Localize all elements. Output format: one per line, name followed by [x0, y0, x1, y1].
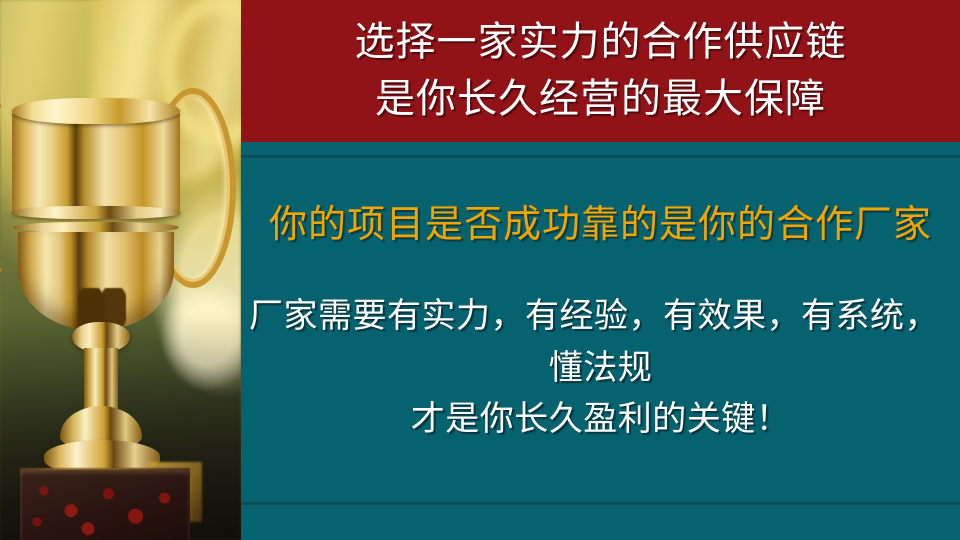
trophy-rim	[12, 98, 180, 124]
header-title-line-2: 是你长久经营的最大保障	[375, 71, 826, 128]
presentation-slide: 选择一家实力的合作供应链 是你长久经营的最大保障 你的项目是否成功靠的是你的合作…	[0, 0, 960, 540]
body-line-2: 懂法规	[245, 343, 956, 395]
trophy-base	[20, 470, 190, 540]
content-panel: 你的项目是否成功靠的是你的合作厂家 厂家需要有实力，有经验，有效果，有系统， 懂…	[241, 155, 960, 505]
content-subtitle: 你的项目是否成功靠的是你的合作厂家	[241, 193, 960, 248]
body-line-1: 厂家需要有实力，有经验，有效果，有系统，	[245, 291, 956, 343]
trophy-photo	[0, 0, 241, 540]
trophy-bowl-upper	[12, 112, 180, 212]
content-body: 厂家需要有实力，有经验，有效果，有系统， 懂法规 才是你长久盈利的关键！	[245, 291, 956, 446]
trophy-illustration	[0, 0, 241, 540]
body-line-3: 才是你长久盈利的关键！	[245, 394, 956, 446]
header-title-line-1: 选择一家实力的合作供应链	[355, 14, 847, 71]
trophy-ring-upper	[11, 206, 181, 219]
header-banner: 选择一家实力的合作供应链 是你长久经营的最大保障	[241, 0, 960, 142]
